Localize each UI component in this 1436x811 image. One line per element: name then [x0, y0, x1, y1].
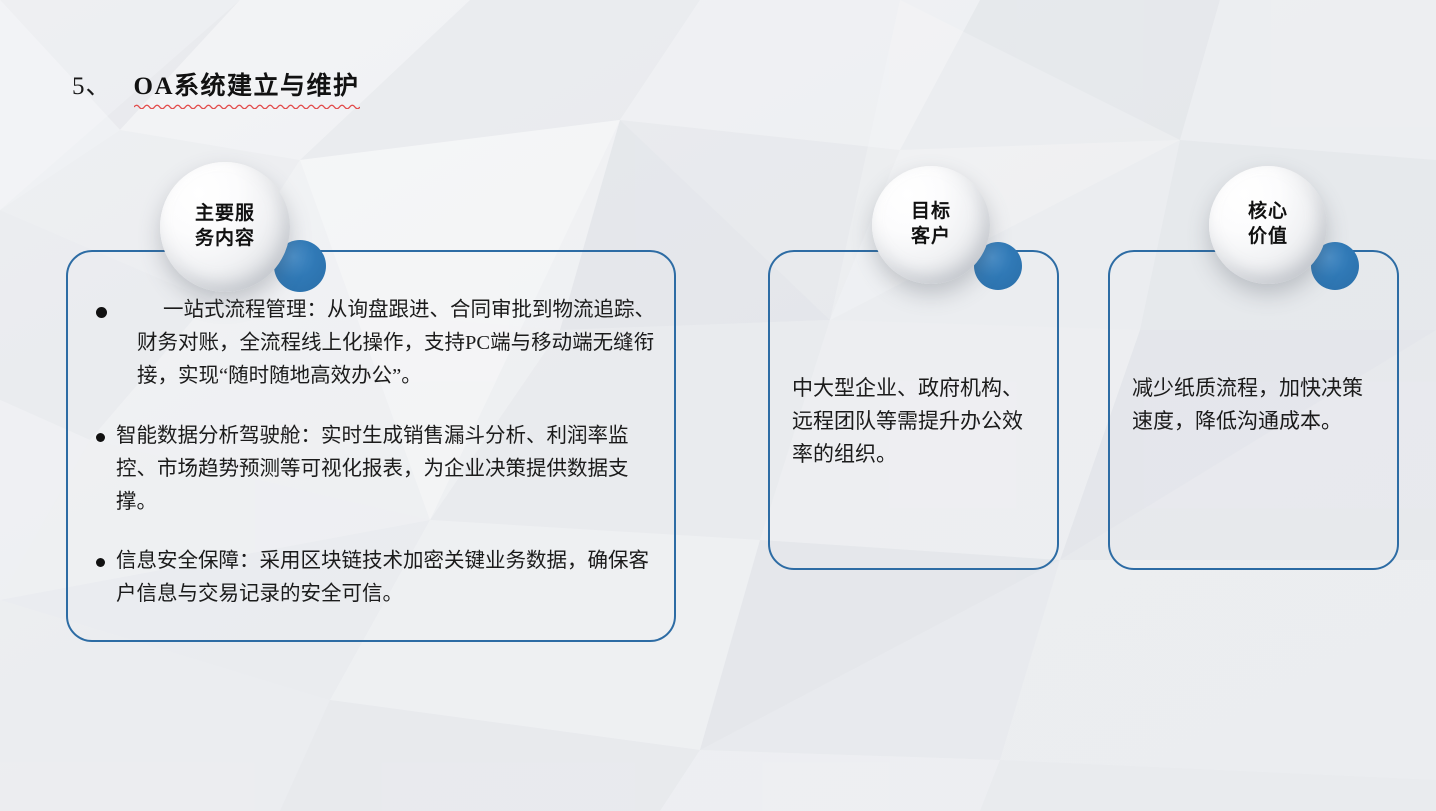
- bullet-dot-icon: [96, 558, 105, 567]
- title-text-wrapper: OA系统建立与维护: [134, 66, 360, 102]
- spellcheck-squiggle-underline: [134, 103, 360, 109]
- badge-label: 目标 客户: [911, 200, 951, 249]
- page-title: 5、 OA系统建立与维护: [72, 66, 360, 102]
- list-item-text: 信息安全保障：采用区块链技术加密关键业务数据，确保客户信息与交易记录的安全可信。: [116, 545, 656, 611]
- list-item: 智能数据分析驾驶舱：实时生成销售漏斗分析、利润率监控、市场趋势预测等可视化报表，…: [96, 420, 656, 520]
- title-number: 5、: [72, 66, 112, 102]
- badge-label: 主要服 务内容: [195, 202, 255, 251]
- card-core-value-body: 减少纸质流程，加快决策速度，降低沟通成本。: [1132, 372, 1382, 438]
- badge-label: 核心 价值: [1248, 200, 1288, 249]
- badge-main-services: 主要服 务内容: [160, 162, 328, 314]
- list-item-text: 智能数据分析驾驶舱：实时生成销售漏斗分析、利润率监控、市场趋势预测等可视化报表，…: [116, 420, 656, 520]
- sphere-icon: 核心 价值: [1209, 166, 1327, 284]
- slide-canvas: 5、 OA系统建立与维护 一站式流程管理：从询盘跟进、合同审批到物流追踪、财务对…: [0, 0, 1436, 811]
- bullet-dot-icon: [96, 433, 105, 442]
- badge-target-customers: 目标 客户: [872, 166, 1024, 306]
- card-paragraph-text: 中大型企业、政府机构、远程团队等需提升办公效率的组织。: [792, 372, 1038, 472]
- title-text: OA系统建立与维护: [134, 73, 360, 100]
- card-target-customers-body: 中大型企业、政府机构、远程团队等需提升办公效率的组织。: [792, 372, 1038, 472]
- card-paragraph-text: 减少纸质流程，加快决策速度，降低沟通成本。: [1132, 372, 1382, 438]
- sphere-icon: 目标 客户: [872, 166, 990, 284]
- badge-core-value: 核心 价值: [1209, 166, 1361, 306]
- bullet-dot-icon: [96, 307, 107, 318]
- card-main-services-body: 一站式流程管理：从询盘跟进、合同审批到物流追踪、财务对账，全流程线上化操作，支持…: [96, 294, 656, 612]
- list-item: 信息安全保障：采用区块链技术加密关键业务数据，确保客户信息与交易记录的安全可信。: [96, 545, 656, 611]
- sphere-icon: 主要服 务内容: [160, 162, 290, 292]
